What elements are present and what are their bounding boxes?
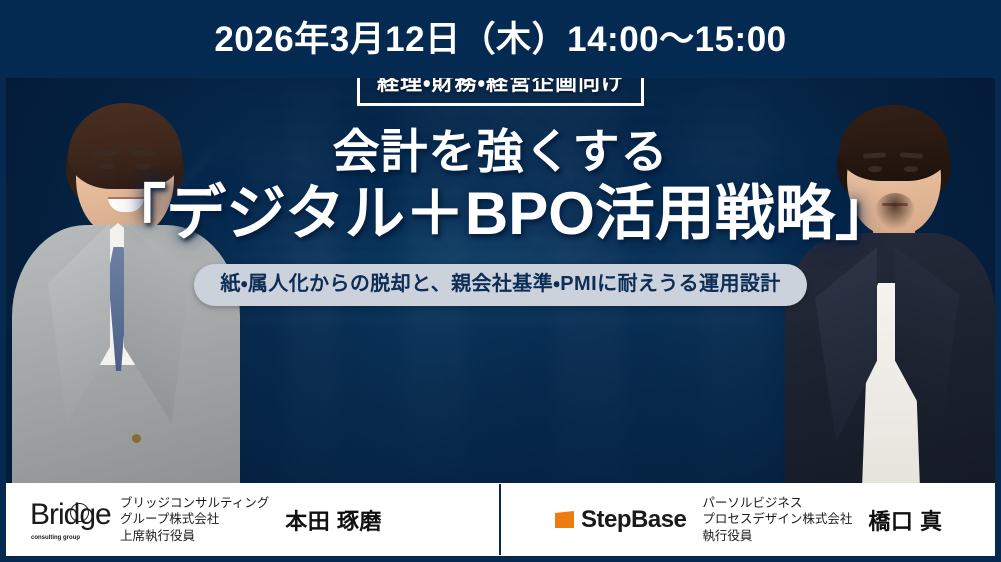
headline-line-2: 「デジタル＋BPO活用戦略」 [106, 180, 895, 247]
org-left-line-1: ブリッジコンサルティング [120, 495, 269, 512]
stepbase-logo-wordmark: StepBase [581, 508, 686, 532]
presenter-block-right: StepBase パーソルビジネス プロセスデザイン株式会社 執行役員 橋口 真 [503, 483, 995, 556]
presenter-block-left: Bridge consulting group ブリッジコンサルティング グルー… [6, 483, 503, 556]
footer-divider [499, 484, 501, 555]
organization-right: パーソルビジネス プロセスデザイン株式会社 執行役員 [702, 495, 852, 545]
bridge-logo-tagline: consulting group [31, 535, 80, 541]
presenter-name-right: 橋口 真 [868, 504, 942, 536]
org-right-line-3: 執行役員 [702, 528, 852, 545]
stepbase-square-icon [555, 511, 574, 528]
headline-line-1: 会計を強くする [106, 127, 895, 178]
date-band: 2026年3月12日（木）14:00〜15:00 [0, 0, 1001, 78]
webinar-banner: 2026年3月12日（木）14:00〜15:00 [0, 0, 1001, 562]
subtitle-pill: 紙・属人化からの脱却と、親会社基準・PMIに耐えうる運用設計 [194, 264, 806, 306]
page-title: 会計を強くする 「デジタル＋BPO活用戦略」 [106, 127, 895, 247]
event-date-time: 2026年3月12日（木）14:00〜15:00 [214, 22, 786, 57]
org-right-line-1: パーソルビジネス [702, 495, 852, 512]
org-left-line-3: 上席執行役員 [120, 528, 269, 545]
org-right-line-2: プロセスデザイン株式会社 [702, 511, 852, 528]
bridge-logo: Bridge consulting group [30, 500, 108, 540]
bridge-logo-ring-icon [70, 503, 89, 522]
stepbase-logo: StepBase [555, 508, 686, 532]
org-left-line-2: グループ株式会社 [120, 511, 269, 528]
presenter-name-left: 本田 琢磨 [285, 504, 382, 536]
organization-left: ブリッジコンサルティング グループ株式会社 上席執行役員 [120, 495, 269, 545]
